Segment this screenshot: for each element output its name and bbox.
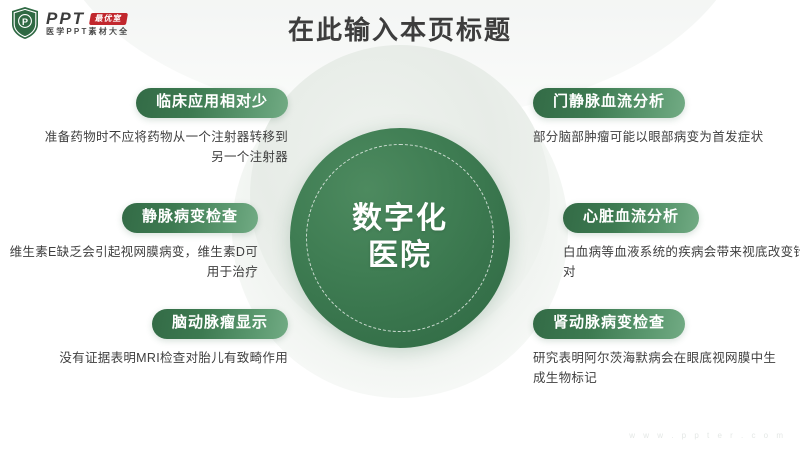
item-left-1-desc: 准备药物时不应将药物从一个注射器转移到另一个注射器 — [38, 127, 288, 168]
slide-canvas: P PPT 最优室 医学PPT素材大全 在此输入本页标题 数字化 医院 临床应用… — [0, 0, 800, 450]
item-right-1-pill[interactable]: 门静脉血流分析 — [533, 88, 685, 118]
item-right-2[interactable]: 心脏血流分析 白血病等血液系统的疾病会带来视底改变针对 — [563, 203, 800, 283]
item-left-3-desc: 没有证据表明MRI检查对胎儿有致畸作用 — [38, 348, 288, 369]
item-left-3[interactable]: 脑动脉瘤显示 没有证据表明MRI检查对胎儿有致畸作用 — [38, 309, 288, 368]
center-hub[interactable]: 数字化 医院 — [290, 128, 510, 348]
site-watermark: w w w . p p t e r . c o m — [629, 431, 786, 440]
page-title: 在此输入本页标题 — [0, 10, 800, 47]
item-left-2-desc: 维生素E缺乏会引起视网膜病变，维生素D可用于治疗 — [8, 242, 258, 283]
item-right-3[interactable]: 肾动脉病变检查 研究表明阿尔茨海默病会在眼底视网膜中生成生物标记 — [533, 309, 783, 389]
item-right-1[interactable]: 门静脉血流分析 部分脑部肿瘤可能以眼部病变为首发症状 — [533, 88, 783, 147]
hub-label-line2: 医院 — [368, 238, 432, 275]
item-right-3-desc: 研究表明阿尔茨海默病会在眼底视网膜中生成生物标记 — [533, 348, 783, 389]
item-right-2-pill[interactable]: 心脏血流分析 — [563, 203, 699, 233]
hub-label-line1: 数字化 — [352, 201, 448, 238]
item-left-2[interactable]: 静脉病变检查 维生素E缺乏会引起视网膜病变，维生素D可用于治疗 — [8, 203, 258, 283]
item-right-1-desc: 部分脑部肿瘤可能以眼部病变为首发症状 — [533, 127, 783, 148]
item-left-1-pill[interactable]: 临床应用相对少 — [136, 88, 288, 118]
item-left-3-pill[interactable]: 脑动脉瘤显示 — [152, 309, 288, 339]
item-right-3-pill[interactable]: 肾动脉病变检查 — [533, 309, 685, 339]
item-right-2-desc: 白血病等血液系统的疾病会带来视底改变针对 — [563, 242, 800, 283]
hub-label: 数字化 医院 — [290, 128, 510, 348]
item-left-2-pill[interactable]: 静脉病变检查 — [122, 203, 258, 233]
item-left-1[interactable]: 临床应用相对少 准备药物时不应将药物从一个注射器转移到另一个注射器 — [38, 88, 288, 168]
